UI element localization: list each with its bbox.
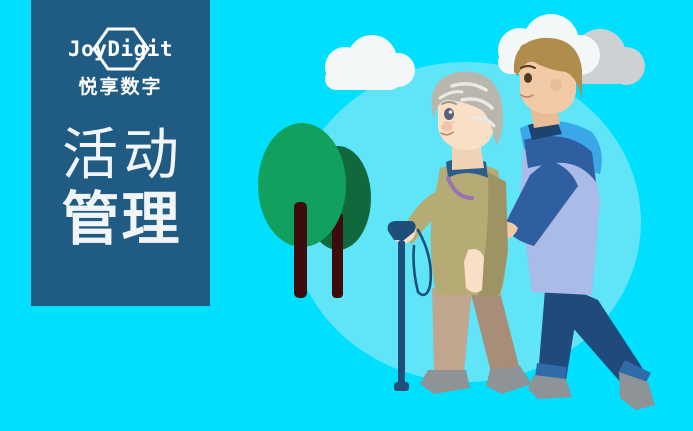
man-eye — [524, 73, 532, 83]
tree-front-trunk — [294, 202, 307, 298]
logo-wordmark: JoyDigit — [68, 39, 173, 60]
cane-shaft — [398, 240, 405, 388]
logo-subtitle: 悦享数字 — [78, 78, 162, 97]
title-line-1: 活动 — [57, 127, 184, 185]
woman-front-shoe — [420, 370, 470, 394]
logo-lockup: JoyDigit — [46, 26, 196, 72]
poster-canvas: JoyDigit 悦享数字 活动 管理 — [0, 0, 693, 431]
cloud-left — [325, 35, 415, 90]
woman-hand-down — [464, 249, 484, 293]
cane-tip — [394, 382, 409, 391]
title-line-2: 管理 — [59, 189, 181, 249]
woman-cheek — [441, 123, 453, 131]
woman-eye — [444, 108, 454, 120]
brand-panel: JoyDigit 悦享数字 活动 管理 — [31, 0, 210, 306]
poster-title: 活动 管理 — [57, 127, 184, 250]
man-ear — [550, 79, 562, 91]
